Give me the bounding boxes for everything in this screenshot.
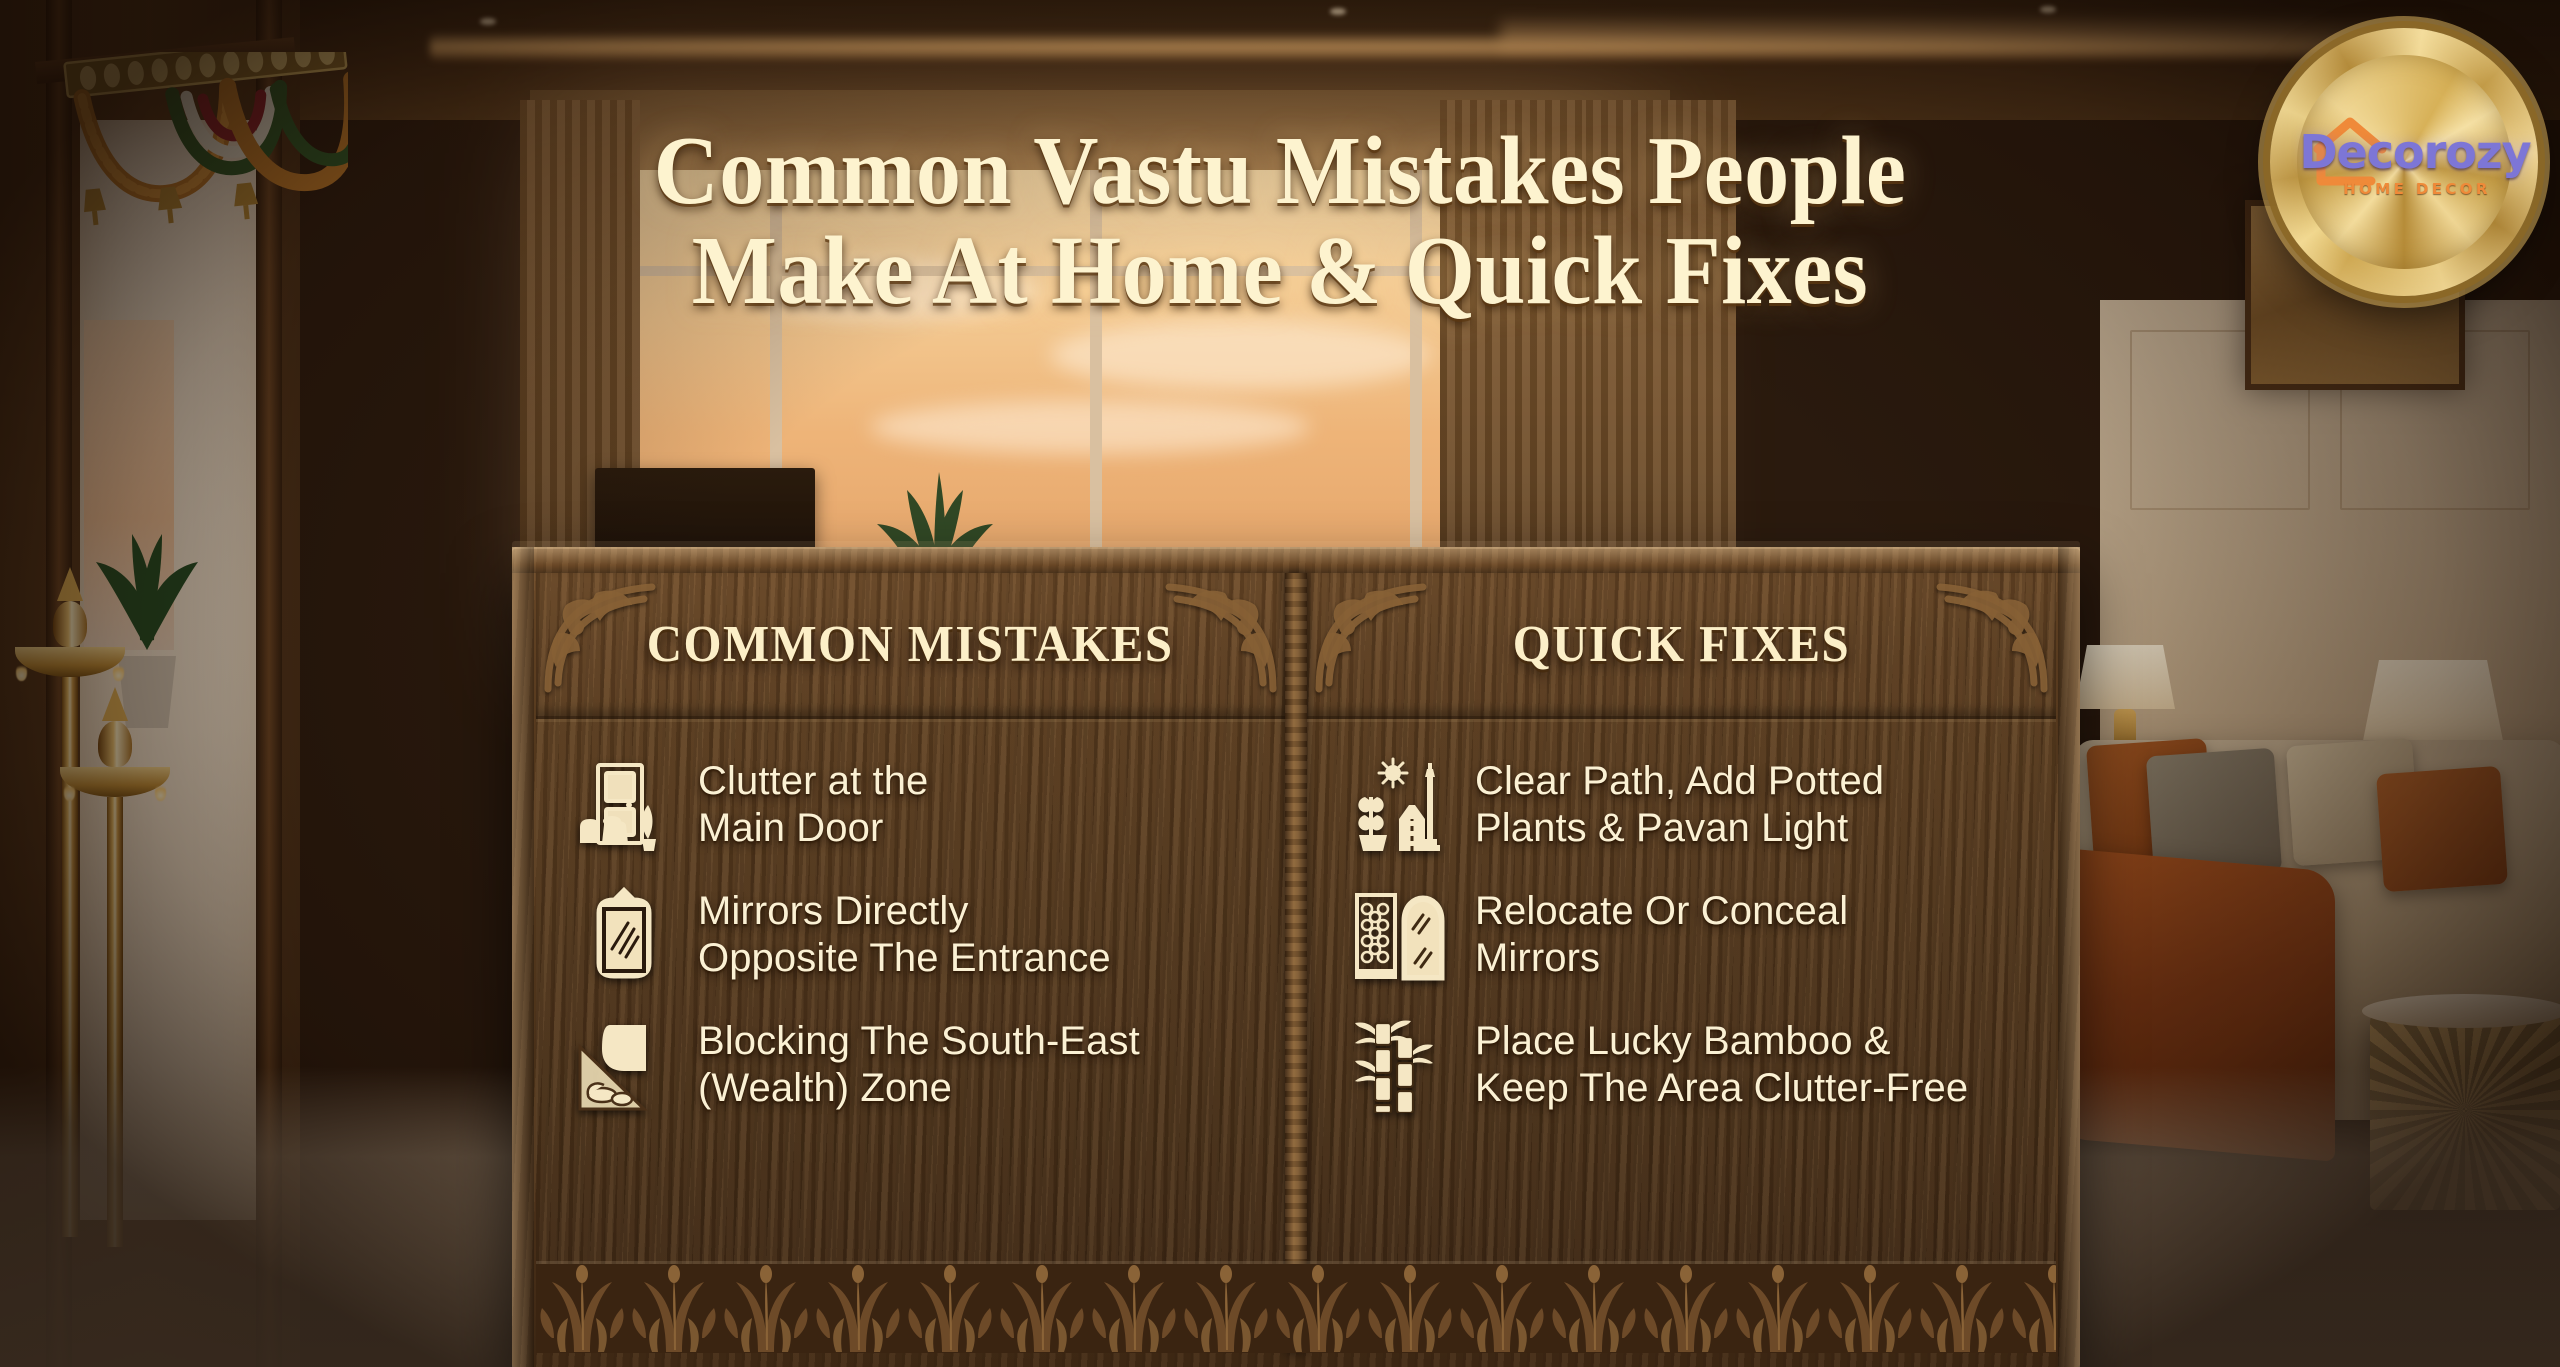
carved-corner-ornament-icon bbox=[1311, 577, 1429, 695]
panel-header-quick-fixes: QUICK FIXES bbox=[1307, 573, 2056, 719]
list-item-label: Mirrors DirectlyOpposite The Entrance bbox=[698, 888, 1111, 982]
page-title: Common Vastu Mistakes People Make At Hom… bbox=[380, 122, 2180, 322]
list-item[interactable]: Place Lucky Bamboo &Keep The Area Clutte… bbox=[1353, 1017, 2026, 1113]
title-line-1: Common Vastu Mistakes People bbox=[452, 122, 2108, 222]
side-table-top bbox=[2362, 994, 2560, 1028]
carved-decorative-band bbox=[536, 1261, 2056, 1353]
cushion bbox=[2376, 766, 2508, 892]
bamboo-icon bbox=[1353, 1017, 1449, 1113]
list-item-label: Clear Path, Add PottedPlants & Pavan Lig… bbox=[1475, 758, 1884, 852]
list-item-label: Relocate Or ConcealMirrors bbox=[1475, 888, 1848, 982]
panel-header-common-mistakes: COMMON MISTAKES bbox=[536, 573, 1285, 719]
wooden-info-board: COMMON MISTAKES bbox=[512, 547, 2080, 1367]
list-item-label: Blocking The South-East(Wealth) Zone bbox=[698, 1018, 1140, 1112]
brand-logo-badge[interactable]: Decorozy HOME DECOR bbox=[2270, 28, 2538, 296]
board-panels: COMMON MISTAKES bbox=[536, 573, 2056, 1353]
panel-divider bbox=[1285, 573, 1307, 1353]
path-plant-lamp-icon bbox=[1353, 757, 1449, 853]
acanthus-motif-icon bbox=[536, 1264, 2056, 1353]
blocked-corner-icon bbox=[576, 1017, 672, 1113]
infographic-canvas: Common Vastu Mistakes People Make At Hom… bbox=[0, 0, 2560, 1367]
mistakes-list: Clutter at theMain Door bbox=[536, 719, 1285, 1133]
heading-quick-fixes: QUICK FIXES bbox=[1513, 615, 1850, 674]
ceiling-spotlight bbox=[2040, 6, 2056, 13]
panel-common-mistakes: COMMON MISTAKES bbox=[536, 573, 1285, 1353]
fixes-list: Clear Path, Add PottedPlants & Pavan Lig… bbox=[1307, 719, 2056, 1133]
carved-corner-ornament-icon bbox=[1163, 577, 1281, 695]
ceiling-spotlight bbox=[1330, 8, 1346, 15]
logo-wordmark: Decorozy bbox=[2299, 125, 2530, 179]
list-item[interactable]: Relocate Or ConcealMirrors bbox=[1353, 887, 2026, 983]
carved-corner-ornament-icon bbox=[540, 577, 658, 695]
list-item[interactable]: Clear Path, Add PottedPlants & Pavan Lig… bbox=[1353, 757, 2026, 853]
list-item-label: Place Lucky Bamboo &Keep The Area Clutte… bbox=[1475, 1018, 1968, 1112]
board-top-bevel bbox=[512, 547, 2080, 573]
heading-common-mistakes: COMMON MISTAKES bbox=[647, 615, 1174, 674]
board-left-edge bbox=[512, 547, 534, 1367]
list-item[interactable]: Blocking The South-East(Wealth) Zone bbox=[576, 1017, 1255, 1113]
ornate-mirror-icon bbox=[576, 887, 672, 983]
logo-tagline: HOME DECOR bbox=[2343, 180, 2491, 198]
door-clutter-icon bbox=[576, 757, 672, 853]
cove-light-secondary bbox=[1500, 18, 2440, 54]
screen-mirror-icon bbox=[1353, 887, 1449, 983]
panel-quick-fixes: QUICK FIXES bbox=[1307, 573, 2056, 1353]
list-item[interactable]: Mirrors DirectlyOpposite The Entrance bbox=[576, 887, 1255, 983]
ceiling-spotlight bbox=[480, 18, 496, 25]
title-line-2: Make At Home & Quick Fixes bbox=[452, 222, 2108, 322]
logo-inner-disc: Decorozy HOME DECOR bbox=[2297, 55, 2511, 269]
list-item-label: Clutter at theMain Door bbox=[698, 758, 928, 852]
board-right-edge bbox=[2058, 547, 2080, 1367]
carved-corner-ornament-icon bbox=[1934, 577, 2052, 695]
toran-garland bbox=[58, 52, 348, 282]
list-item[interactable]: Clutter at theMain Door bbox=[576, 757, 1255, 853]
